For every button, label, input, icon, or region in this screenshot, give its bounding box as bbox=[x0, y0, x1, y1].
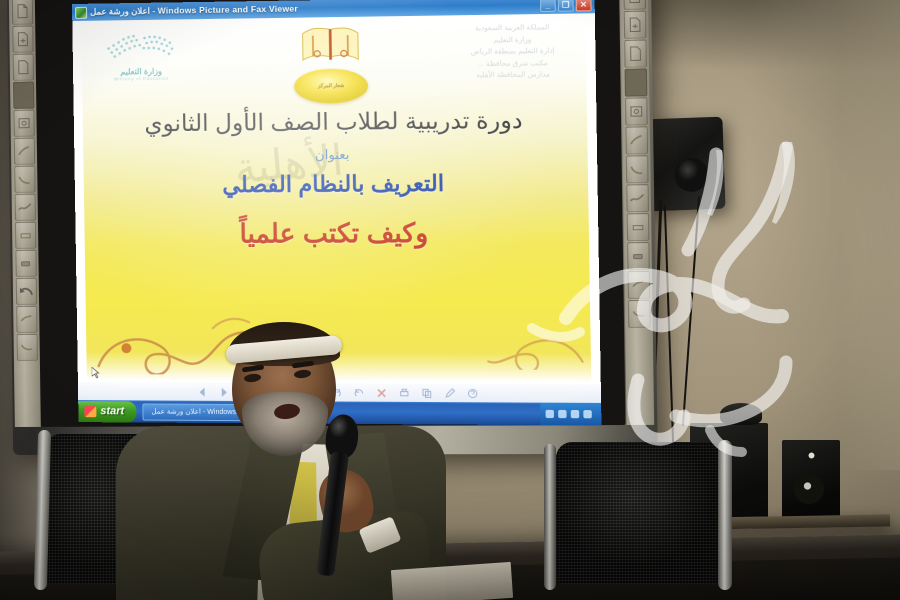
help-icon[interactable] bbox=[466, 387, 478, 398]
mouse-cursor-icon bbox=[92, 367, 100, 378]
eraser-icon[interactable] bbox=[15, 250, 36, 277]
minimize-button[interactable]: _ bbox=[540, 0, 556, 12]
ministry-name-en: Ministry of Education bbox=[98, 76, 184, 82]
chair-chrome-rail bbox=[544, 444, 556, 590]
whiteboard-right-button-strip[interactable] bbox=[620, 0, 654, 425]
decorative-swirl-right-icon bbox=[429, 298, 587, 370]
highlighter-icon[interactable] bbox=[14, 222, 35, 249]
blackout-icon[interactable] bbox=[13, 81, 34, 108]
letterhead-line: إدارة التعليم بمنطقة الرياض bbox=[454, 46, 571, 59]
slide-title-line-2: بعنوان bbox=[83, 145, 587, 165]
woofer-icon bbox=[794, 474, 824, 504]
highlighter-icon[interactable] bbox=[626, 213, 649, 241]
pen-black-icon[interactable] bbox=[626, 184, 649, 212]
eraser-icon[interactable] bbox=[627, 242, 650, 270]
screen-capture-icon[interactable] bbox=[624, 97, 647, 125]
open-book-icon bbox=[292, 21, 369, 73]
mesh-office-chair-right bbox=[540, 440, 740, 600]
pen-black-icon[interactable] bbox=[14, 194, 35, 221]
pointer-icon[interactable] bbox=[16, 306, 37, 333]
speaker-satellite bbox=[782, 440, 840, 522]
antivirus-icon[interactable] bbox=[583, 410, 592, 418]
windows-flag-icon bbox=[84, 406, 96, 417]
screen-capture-icon[interactable] bbox=[13, 110, 34, 137]
chair-mesh-back bbox=[556, 442, 726, 584]
ministry-letterhead: المملكة العربية السعودية وزارة التعليم إ… bbox=[454, 22, 572, 83]
emblem-badge: شعار المركز bbox=[294, 68, 368, 103]
close-button[interactable]: ✕ bbox=[576, 0, 592, 11]
system-tray[interactable] bbox=[540, 403, 601, 426]
speaker-knob bbox=[720, 403, 762, 425]
ministry-of-education-logo: وزارة التعليم Ministry of Education bbox=[97, 29, 184, 81]
pen-blue-icon[interactable] bbox=[625, 155, 648, 183]
wall-mounted-speaker bbox=[646, 117, 725, 212]
photo-scene: اعلان ورشة عمل - Windows Picture and Fax… bbox=[0, 0, 900, 600]
pen-blue-icon[interactable] bbox=[14, 166, 35, 193]
undo-arrow-icon[interactable] bbox=[627, 271, 650, 299]
new-page-icon[interactable] bbox=[11, 0, 32, 25]
blackout-icon[interactable] bbox=[624, 68, 647, 96]
language-icon[interactable] bbox=[571, 410, 580, 418]
school-emblem: شعار المركز bbox=[283, 21, 379, 104]
speaker-cone bbox=[674, 157, 709, 192]
blank-page-icon[interactable] bbox=[12, 53, 33, 80]
pen-red-icon[interactable] bbox=[13, 138, 34, 165]
volume-icon[interactable] bbox=[546, 410, 555, 418]
slide-title-line-4: وكيف تكتب علمياً bbox=[84, 217, 589, 250]
pen-red-icon[interactable] bbox=[625, 126, 648, 154]
presenter bbox=[110, 322, 450, 600]
slide-header: وزارة التعليم Ministry of Education bbox=[81, 17, 586, 106]
save-page-icon[interactable] bbox=[12, 25, 33, 53]
new-page-icon[interactable] bbox=[623, 0, 646, 10]
chair-chrome-rail bbox=[718, 440, 732, 590]
undo-arrow-icon[interactable] bbox=[15, 278, 36, 305]
pointer-icon[interactable] bbox=[627, 300, 650, 328]
slide-title-line-1: دورة تدريبية لطلاب الصف الأول الثانوي bbox=[83, 106, 588, 138]
network-icon[interactable] bbox=[558, 410, 567, 418]
slide-title-line-3: التعريف بالنظام الفصلي bbox=[84, 170, 589, 199]
letterhead-line: مدارس المحافظة الأهلية bbox=[455, 69, 572, 82]
microphone-body bbox=[316, 451, 349, 576]
save-page-icon[interactable] bbox=[623, 11, 646, 39]
keyboard-icon[interactable] bbox=[16, 334, 37, 361]
window-controls[interactable]: _ ❐ ✕ bbox=[540, 0, 592, 12]
palm-and-swords-dots-icon bbox=[100, 29, 181, 60]
tweeter-icon bbox=[806, 450, 817, 461]
picture-file-icon bbox=[75, 6, 87, 18]
wall-right-corner bbox=[750, 0, 900, 470]
maximize-button[interactable]: ❐ bbox=[558, 0, 574, 12]
blank-page-icon[interactable] bbox=[624, 39, 647, 67]
